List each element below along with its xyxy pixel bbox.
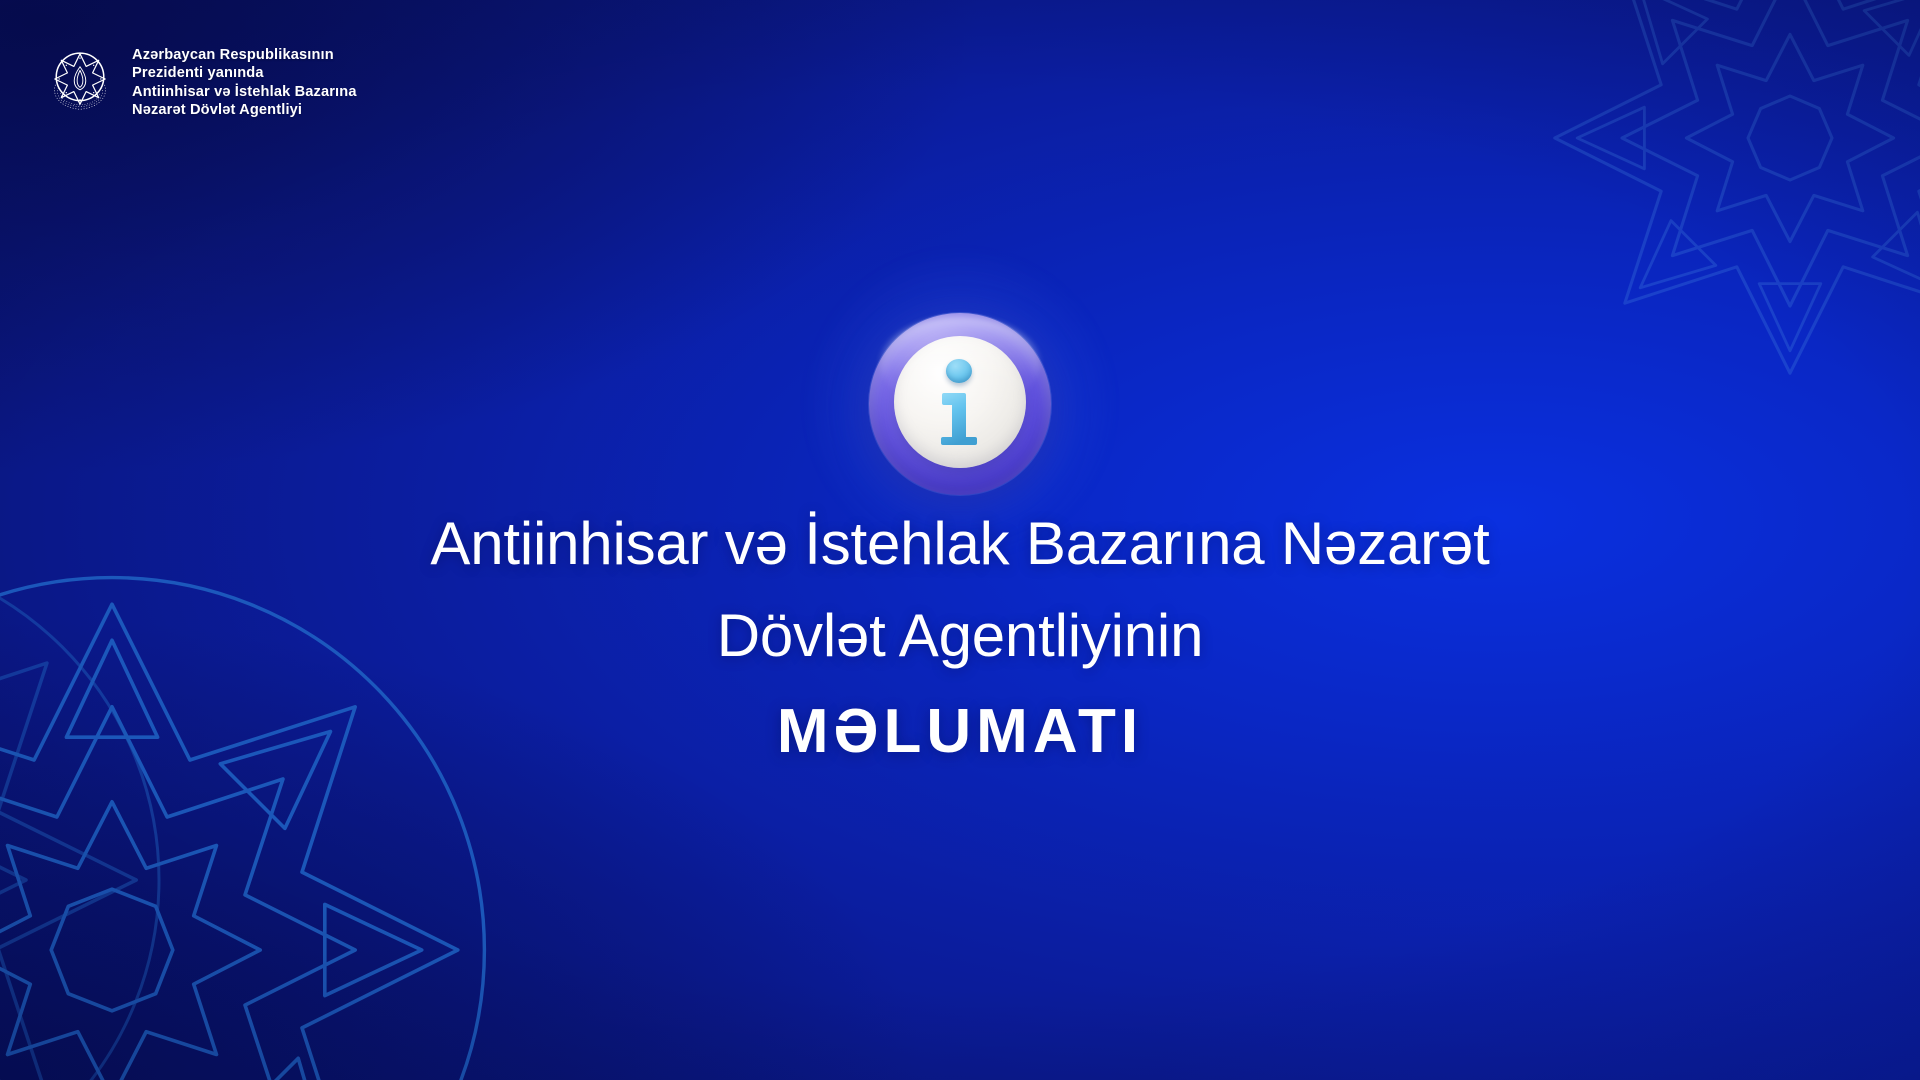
org-line-2: Prezidenti yanında [132, 64, 357, 82]
information-icon-face [894, 336, 1026, 468]
organization-logo-block: Azərbaycan Respublikasının Prezidenti ya… [44, 42, 357, 120]
information-icon-ring [869, 313, 1051, 495]
title-line-2: Dövlət Agentliyinin [120, 590, 1800, 682]
presentation-slide: Azərbaycan Respublikasının Prezidenti ya… [0, 0, 1920, 1080]
title-line-1: Antiinhisar və İstehlak Bazarına Nəzarət [120, 498, 1800, 590]
title-emphasis: MƏLUMATI [120, 694, 1800, 770]
page-title: Antiinhisar və İstehlak Bazarına Nəzarət… [0, 498, 1920, 770]
information-icon-dot [946, 359, 972, 383]
information-icon-glyph [933, 359, 987, 445]
org-line-4: Nəzarət Dövlət Agentliyi [132, 101, 357, 119]
information-icon-stem [936, 391, 984, 445]
organization-name: Azərbaycan Respublikasının Prezidenti ya… [132, 42, 357, 120]
org-line-3: Antiinhisar və İstehlak Bazarına [132, 83, 357, 101]
azerbaijan-state-emblem-icon [44, 43, 116, 115]
org-line-1: Azərbaycan Respublikasının [132, 46, 357, 64]
